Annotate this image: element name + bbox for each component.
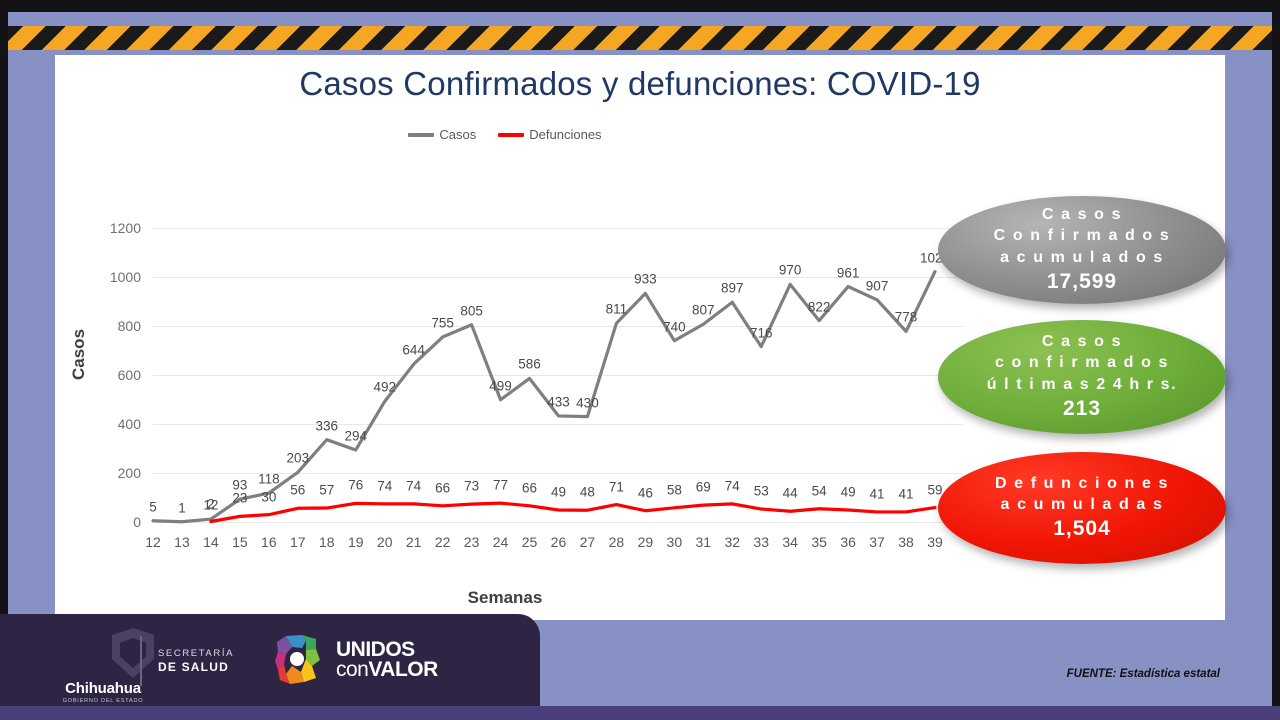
chart-legend: Casos Defunciones: [55, 127, 955, 142]
state-name: Chihuahua: [65, 680, 141, 697]
data-label-casos: 433: [547, 394, 570, 409]
source-note: FUENTE: Estadística estatal: [1067, 668, 1220, 680]
data-label-defunciones: 49: [841, 484, 856, 499]
bubble-line: C a s o s: [1042, 331, 1122, 352]
data-label-casos: 740: [663, 319, 686, 334]
secretaria-line-2: DE SALUD: [158, 660, 234, 676]
data-label-casos: 586: [518, 357, 541, 372]
unidos-con: con: [336, 658, 368, 681]
callout-defunciones-acumuladas: D e f u n c i o n e s a c u m u l a d a …: [938, 452, 1226, 564]
data-label-defunciones: 71: [609, 479, 624, 494]
data-label-defunciones: 77: [493, 478, 508, 493]
x-axis-title: Semanas: [55, 588, 955, 608]
right-border: [1272, 0, 1280, 720]
slide-canvas: Casos Confirmados y defunciones: COVID-1…: [0, 0, 1280, 720]
data-label-defunciones: 73: [464, 479, 479, 494]
data-label-casos: 822: [808, 299, 831, 314]
left-border: [0, 0, 8, 720]
data-label-defunciones: 49: [551, 484, 566, 499]
data-label-defunciones: 30: [261, 489, 276, 504]
data-label-defunciones: 74: [406, 478, 421, 493]
bubble-line: a c u m u l a d a s: [1001, 494, 1164, 515]
data-label-defunciones: 2: [207, 496, 215, 511]
chihuahua-logo: Chihuahua GOBIERNO DEL ESTADO: [52, 628, 154, 704]
data-label-casos: 961: [837, 265, 860, 280]
data-label-casos: 807: [692, 303, 715, 318]
data-label-casos: 1: [178, 500, 186, 515]
data-label-defunciones: 58: [667, 482, 682, 497]
callout-casos-confirmados-acumulados: C a s o s C o n f i r m a d o s a c u m …: [938, 196, 1226, 304]
data-label-casos: 430: [576, 395, 599, 410]
secretaria-logo: SECRETARÍA DE SALUD: [158, 648, 234, 676]
unidos-con-valor-logo: UNIDOS conVALOR: [272, 632, 438, 688]
data-label-casos: 897: [721, 281, 744, 296]
data-label-defunciones: 54: [812, 483, 827, 498]
data-label-defunciones: 44: [783, 486, 798, 501]
bubble-line: D e f u n c i o n e s: [995, 473, 1169, 494]
chart-plot: [55, 150, 955, 570]
data-label-defunciones: 69: [696, 480, 711, 495]
legend-label-defunciones: Defunciones: [529, 127, 601, 142]
bubble-line: C a s o s: [1042, 204, 1122, 225]
top-border: [0, 0, 1280, 12]
bubble-line: ú l t i m a s 2 4 h r s.: [987, 374, 1177, 395]
data-label-casos: 970: [779, 263, 802, 278]
data-label-casos: 811: [606, 302, 628, 317]
bubble-value: 1,504: [1053, 515, 1111, 543]
secretaria-line-1: SECRETARÍA: [158, 648, 234, 660]
unidos-line-1: UNIDOS: [336, 640, 438, 660]
data-label-defunciones: 23: [232, 491, 247, 506]
data-label-casos: 716: [750, 325, 773, 340]
data-label-defunciones: 48: [580, 485, 595, 500]
shield-inner-icon: [120, 638, 146, 668]
footer-divider: [140, 636, 142, 686]
data-label-defunciones: 59: [927, 482, 942, 497]
data-label-defunciones: 66: [522, 480, 537, 495]
data-label-casos: 336: [316, 418, 339, 433]
data-label-casos: 5: [149, 499, 157, 514]
bubble-line: c o n f i r m a d o s: [995, 352, 1169, 373]
data-label-defunciones: 76: [348, 478, 363, 493]
unidos-line-2: conVALOR: [336, 660, 438, 680]
data-label-casos: 755: [431, 316, 454, 331]
bubble-value: 213: [1063, 395, 1101, 423]
data-label-defunciones: 41: [899, 486, 914, 501]
data-label-casos: 778: [895, 310, 918, 325]
data-label-defunciones: 66: [435, 480, 450, 495]
unidos-valor: VALOR: [368, 658, 437, 681]
legend-swatch-casos: [408, 133, 434, 137]
legend-item-casos: Casos: [408, 127, 476, 142]
bubble-line: a c u m u l a d o s: [1000, 247, 1164, 268]
bubble-value: 17,599: [1047, 268, 1117, 296]
data-label-defunciones: 41: [870, 486, 885, 501]
top-color-band: [8, 12, 1272, 26]
data-label-casos: 118: [258, 472, 280, 487]
chart-area: Casos Semanas 020040060080010001200 1213…: [55, 150, 955, 620]
data-label-defunciones: 53: [754, 484, 769, 499]
state-subtitle: GOBIERNO DEL ESTADO: [63, 698, 144, 704]
data-label-casos: 933: [634, 272, 657, 287]
data-label-casos: 499: [489, 378, 512, 393]
data-label-casos: 644: [402, 343, 425, 358]
legend-item-defunciones: Defunciones: [498, 127, 601, 142]
data-label-defunciones: 46: [638, 485, 653, 500]
data-label-defunciones: 74: [725, 478, 740, 493]
legend-label-casos: Casos: [439, 127, 476, 142]
data-label-defunciones: 56: [290, 483, 305, 498]
data-label-defunciones: 57: [319, 483, 334, 498]
data-label-casos: 294: [344, 428, 367, 443]
data-label-casos: 805: [460, 303, 483, 318]
data-label-defunciones: 74: [377, 478, 392, 493]
page-title: Casos Confirmados y defunciones: COVID-1…: [55, 65, 1225, 103]
data-label-casos: 203: [287, 451, 310, 466]
bubble-line: C o n f i r m a d o s: [994, 225, 1171, 246]
bottom-color-strip: [0, 706, 1280, 720]
hazard-stripe-decoration: [8, 26, 1272, 50]
series-line-defunciones: [211, 503, 935, 521]
footer-bar: Chihuahua GOBIERNO DEL ESTADO SECRETARÍA…: [0, 614, 540, 706]
callout-casos-confirmados-24hrs: C a s o s c o n f i r m a d o s ú l t i …: [938, 320, 1226, 434]
chihuahua-map-icon: [272, 632, 328, 688]
unidos-text: UNIDOS conVALOR: [336, 640, 438, 680]
shield-icon: [112, 628, 154, 678]
data-label-casos: 907: [866, 278, 889, 293]
data-label-casos: 492: [373, 380, 396, 395]
legend-swatch-defunciones: [498, 133, 524, 137]
